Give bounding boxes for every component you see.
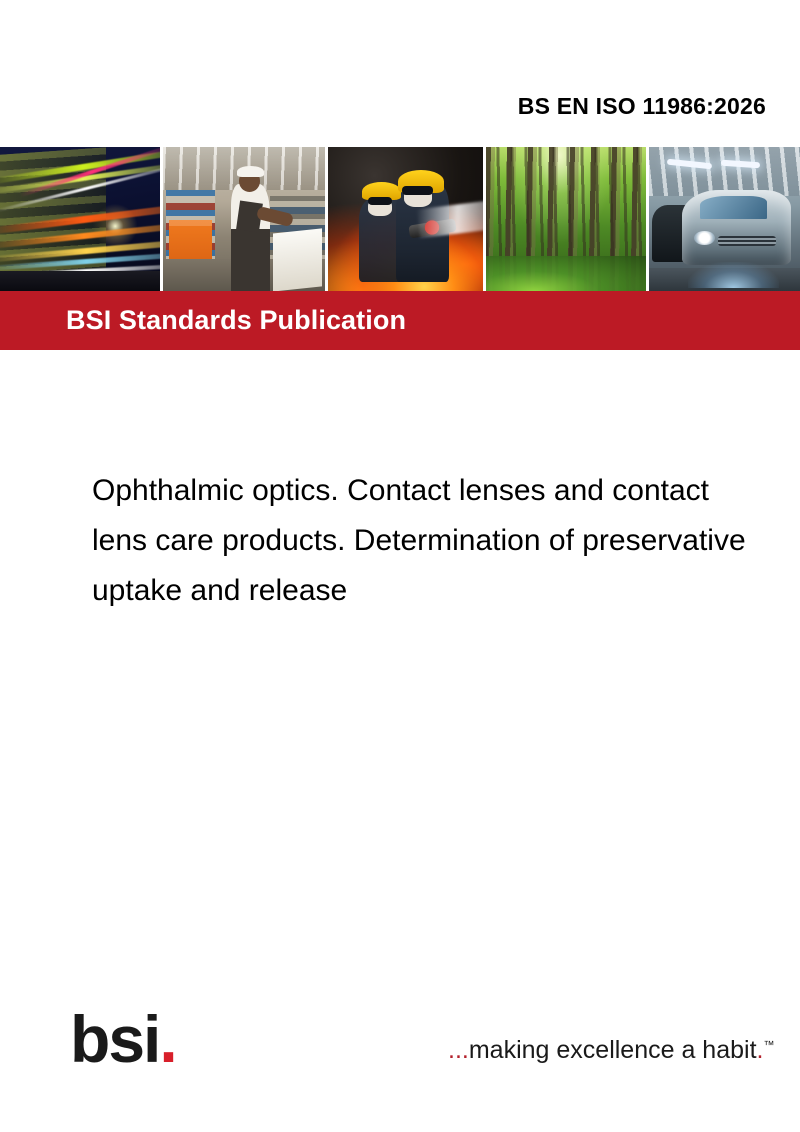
banner-image-warehouse-worker — [160, 147, 325, 291]
banner-image-firefighters — [325, 147, 483, 291]
road-surface — [0, 271, 160, 291]
tagline-text: making excellence a habit — [469, 1036, 757, 1064]
cover-banner-images — [0, 147, 800, 291]
visor-rear — [368, 197, 391, 204]
trademark-symbol: ™ — [763, 1040, 774, 1052]
banner-image-car-assembly — [646, 147, 800, 291]
bsi-logo-wordmark: bsi — [70, 1002, 159, 1076]
car-headlight — [694, 231, 715, 245]
bsi-standards-publication-band: BSI Standards Publication — [0, 291, 800, 350]
bsi-logo-text: bsi. — [70, 1006, 190, 1072]
visor-front — [402, 186, 433, 195]
cover-page: BS EN ISO 11986:2026 — [0, 0, 800, 1132]
worker-body — [231, 184, 270, 291]
forest-undergrowth — [486, 256, 646, 291]
title-line-3: uptake and release — [92, 566, 800, 616]
title-line-2: lens care products. Determination of pre… — [92, 516, 800, 566]
worker-cap — [237, 166, 265, 178]
factory-roof — [649, 147, 800, 196]
standard-number: BS EN ISO 11986:2026 — [0, 93, 766, 120]
car-grille — [718, 236, 775, 246]
bsi-logo-dot: . — [159, 1002, 175, 1076]
title-line-1: Ophthalmic optics. Contact lenses and co… — [92, 466, 800, 516]
bsi-logo: bsi. — [70, 1006, 190, 1072]
white-carton — [273, 228, 322, 291]
bsi-tagline: ...making excellence a habit.™ — [448, 1036, 774, 1065]
tagline-ellipsis: ... — [448, 1036, 469, 1064]
banner-image-traffic-light-trails — [0, 147, 160, 291]
banner-image-forest — [483, 147, 646, 291]
floor-light-glow — [688, 262, 779, 288]
band-label: BSI Standards Publication — [66, 305, 406, 336]
car-windshield — [700, 196, 766, 219]
document-title: Ophthalmic optics. Contact lenses and co… — [92, 466, 800, 616]
